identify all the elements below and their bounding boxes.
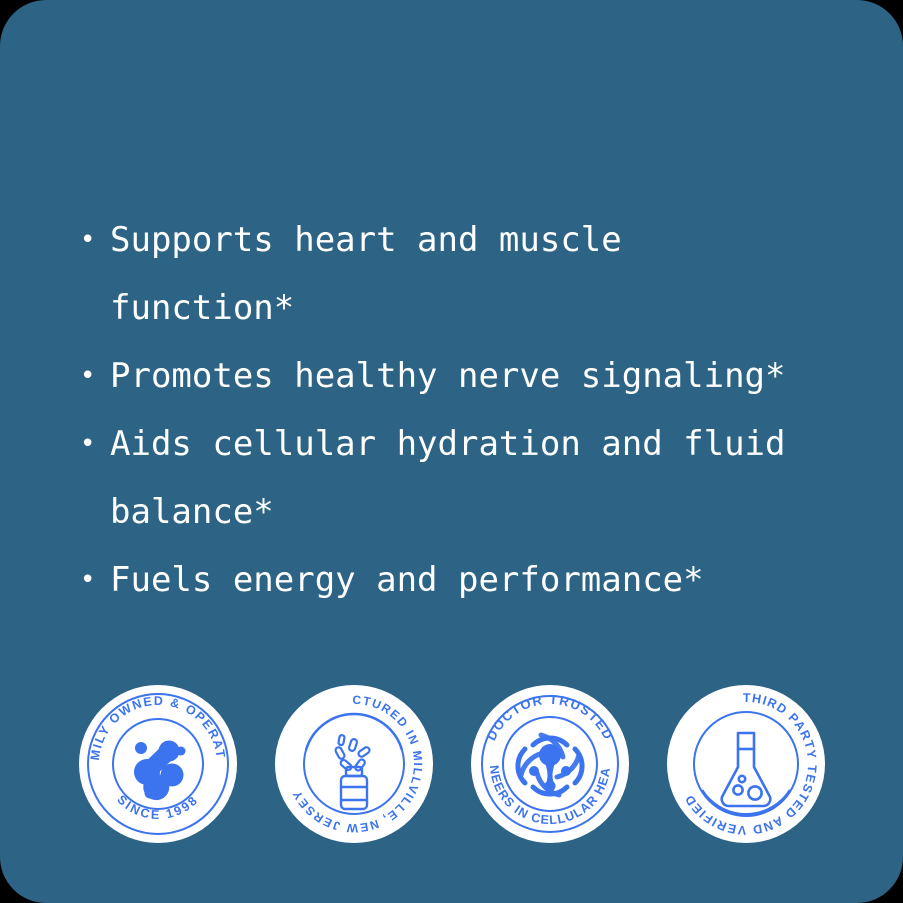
benefit-item: • Fuels energy and performance* bbox=[80, 546, 840, 614]
badge-family-owned: FAMILY OWNED & OPERATED SINCE 1998 bbox=[77, 683, 239, 845]
benefit-item: • Promotes healthy nerve signaling* bbox=[80, 342, 840, 410]
benefit-text: Aids cellular hydration and fluid balanc… bbox=[110, 410, 810, 546]
bullet-icon: • bbox=[80, 206, 110, 274]
benefits-list: • Supports heart and muscle function* • … bbox=[80, 206, 840, 614]
badge-face bbox=[667, 685, 825, 843]
bullet-icon: • bbox=[80, 546, 110, 614]
benefit-text: Promotes healthy nerve signaling* bbox=[110, 342, 810, 410]
benefit-item: • Supports heart and muscle function* bbox=[80, 206, 840, 342]
bullet-icon: • bbox=[80, 342, 110, 410]
badge-manufactured-nj: MANUFACTURED IN MILLVILLE, NEW JERSEY bbox=[273, 683, 435, 845]
benefit-text: Fuels energy and performance* bbox=[110, 546, 810, 614]
benefits-card: • Supports heart and muscle function* • … bbox=[0, 0, 903, 903]
bullet-icon: • bbox=[80, 410, 110, 478]
benefit-item: • Aids cellular hydration and fluid bala… bbox=[80, 410, 840, 546]
badge-face bbox=[275, 685, 433, 843]
trust-badges-row: FAMILY OWNED & OPERATED SINCE 1998 bbox=[0, 683, 903, 845]
benefit-text: Supports heart and muscle function* bbox=[110, 206, 810, 342]
badge-third-party-tested: ALWAYS THIRD PARTY TESTED AND VERIFIED bbox=[665, 683, 827, 845]
badge-doctor-trusted: DOCTOR TRUSTED PIONEERS IN CELLULAR HEAL… bbox=[469, 683, 631, 845]
